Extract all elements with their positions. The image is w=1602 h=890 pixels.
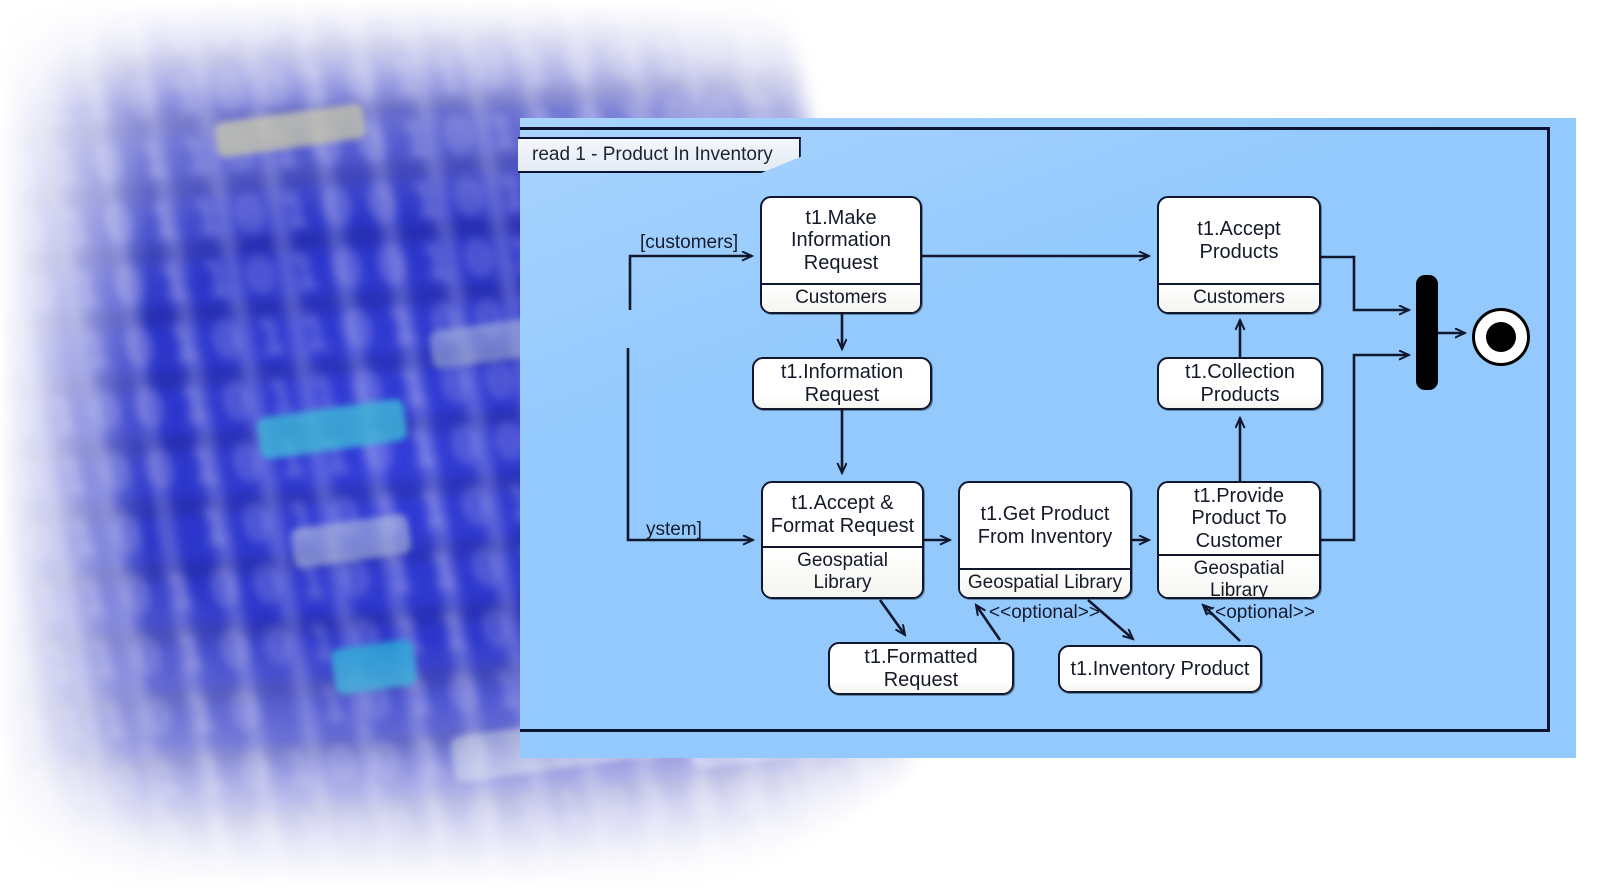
node-partition-label: Geospatial Library — [1159, 554, 1319, 599]
node-label: t1.Provide Product To Customer — [1159, 483, 1319, 554]
node-label: t1.Information Request — [754, 359, 930, 408]
node-label: t1.Inventory Product — [1060, 647, 1260, 691]
edge-stereotype-optional-1: <<optional>> — [989, 602, 1100, 624]
diagram-connectors — [0, 0, 1602, 890]
node-collection-products[interactable]: t1.Collection Products — [1157, 357, 1323, 410]
node-information-request[interactable]: t1.Information Request — [752, 357, 932, 410]
node-get-product-from-inventory[interactable]: t1.Get Product From InventoryGeospatial … — [958, 481, 1132, 599]
edge-guard-guard-customers: [customers] — [640, 232, 738, 254]
node-formatted-request[interactable]: t1.Formatted Request — [828, 642, 1014, 695]
node-partition-label: Geospatial Library — [960, 568, 1130, 597]
node-provide-product-to-customer[interactable]: t1.Provide Product To CustomerGeospatial… — [1157, 481, 1321, 599]
node-label: t1.Accept Products — [1159, 198, 1319, 283]
node-label: t1.Make Information Request — [762, 198, 920, 283]
join-bar — [1416, 275, 1438, 390]
node-label: t1.Collection Products — [1159, 359, 1321, 408]
activity-final-inner — [1486, 322, 1516, 352]
node-make-information-request[interactable]: t1.Make Information RequestCustomers — [760, 196, 922, 314]
node-inventory-product[interactable]: t1.Inventory Product — [1058, 645, 1262, 693]
activity-final-node — [1472, 308, 1530, 366]
edge-guard-guard-system: ystem] — [646, 519, 702, 541]
node-label: t1.Formatted Request — [830, 644, 1012, 693]
node-partition-label: Geospatial Library — [763, 546, 922, 597]
node-label: t1.Get Product From Inventory — [960, 483, 1130, 568]
edge-stereotype-optional-2: <<optional>> — [1204, 602, 1315, 624]
node-accept-products[interactable]: t1.Accept ProductsCustomers — [1157, 196, 1321, 314]
node-accept-and-format-request[interactable]: t1.Accept & Format RequestGeospatial Lib… — [761, 481, 924, 599]
node-label: t1.Accept & Format Request — [763, 483, 922, 546]
node-partition-label: Customers — [1159, 283, 1319, 312]
node-partition-label: Customers — [762, 283, 920, 312]
